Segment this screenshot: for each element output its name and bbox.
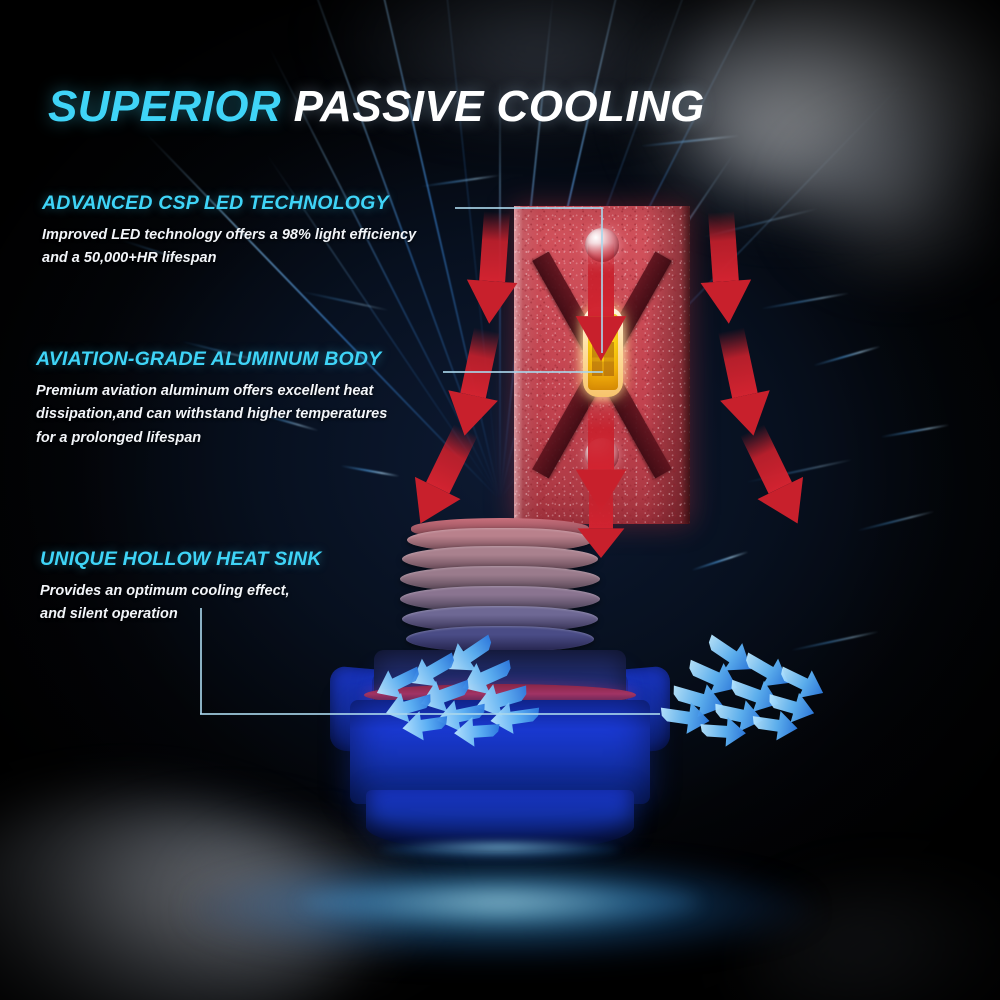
leader-line-2-horizontal xyxy=(443,371,603,373)
airflow-arrow-right-8 xyxy=(711,694,767,736)
airflow-arrow-right-1 xyxy=(699,626,761,682)
callout-1-body: Improved LED technology offers a 98% lig… xyxy=(42,224,416,271)
callout-aviation-grade-aluminum-body: AVIATION-GRADE ALUMINUM BODY Premium avi… xyxy=(36,348,387,450)
page-title: SUPERIOR PASSIVE COOLING xyxy=(48,82,705,132)
cooling-fin-6 xyxy=(406,626,594,652)
callout-2-body: Premium aviation aluminum offers excelle… xyxy=(36,380,387,450)
callout-2-heading: AVIATION-GRADE ALUMINUM BODY xyxy=(36,348,387,371)
airflow-arrow-right-5 xyxy=(724,670,784,719)
callout-advanced-csp-led-technology: ADVANCED CSP LED TECHNOLOGY Improved LED… xyxy=(42,192,416,271)
airflow-arrow-right-4 xyxy=(681,650,744,703)
body-rivet-bottom xyxy=(585,438,619,472)
hollow-heat-sink-body xyxy=(350,700,650,804)
leader-line-3-horizontal xyxy=(200,713,660,715)
heat-flow-arrow-right-1 xyxy=(696,210,754,325)
airflow-arrow-right-3 xyxy=(773,658,830,707)
heat-flow-arrow-left-3 xyxy=(398,419,489,535)
callout-3-body: Provides an optimum cooling effect, and … xyxy=(40,580,322,627)
heat-flow-arrow-left-2 xyxy=(440,325,512,441)
floor-glow-core xyxy=(300,880,700,924)
heat-sink-foot xyxy=(366,790,634,852)
airflow-arrow-right-11 xyxy=(699,715,747,748)
led-headlight-bulb xyxy=(0,0,1000,1000)
callout-unique-hollow-heat-sink: UNIQUE HOLLOW HEAT SINK Provides an opti… xyxy=(40,548,322,627)
airflow-arrow-right-6 xyxy=(764,685,819,728)
infographic-canvas: SUPERIOR PASSIVE COOLING ADVANCED CSP LE… xyxy=(0,0,1000,1000)
callout-1-heading: ADVANCED CSP LED TECHNOLOGY xyxy=(42,192,416,215)
body-highlight-left xyxy=(514,206,523,524)
callout-3-heading: UNIQUE HOLLOW HEAT SINK xyxy=(40,548,322,571)
title-main: PASSIVE COOLING xyxy=(294,82,705,131)
heat-flow-arrow-right-3 xyxy=(729,419,820,535)
body-shadow-right xyxy=(681,206,690,524)
csp-led-chip xyxy=(588,314,618,390)
airflow-arrow-right-9 xyxy=(750,707,800,743)
title-accent: SUPERIOR xyxy=(48,82,281,131)
airflow-arrow-right-7 xyxy=(667,676,728,724)
leader-line-1-horizontal xyxy=(455,207,602,209)
airflow-arrow-right-2 xyxy=(737,644,796,697)
heat-flow-arrow-right-2 xyxy=(706,325,778,441)
leader-line-1-vertical xyxy=(601,207,603,353)
